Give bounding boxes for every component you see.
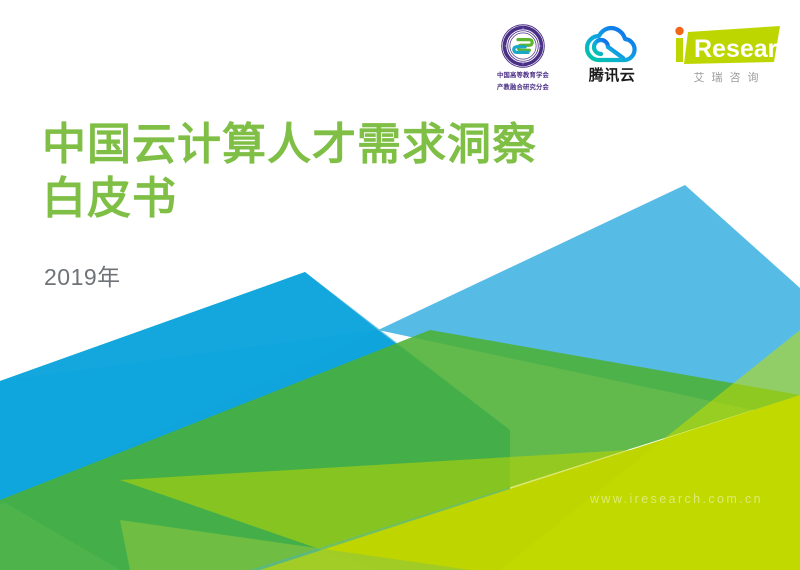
chea-label-line1: 中国高等教育学会	[497, 71, 549, 80]
chea-logo: 中国高等教育学会 产教融合研究分会	[492, 24, 554, 93]
chea-seal-icon	[492, 24, 554, 68]
iresearch-label: 艾瑞咨询	[687, 72, 766, 84]
title-line-1: 中国云计算人才需求洞察	[42, 118, 662, 172]
iresearch-wordmark-icon: Research	[670, 24, 782, 68]
tencent-cloud-logo: 腾讯云	[576, 24, 648, 85]
iresearch-logo: Research 艾瑞咨询	[670, 24, 782, 84]
tencent-cloud-label: 腾讯云	[589, 68, 636, 85]
subtitle-year: 2019年	[44, 258, 121, 292]
page-title: 中国云计算人才需求洞察 白皮书	[42, 118, 662, 225]
cover-page: 中国高等教育学会 产教融合研究分会 腾讯云	[0, 0, 800, 570]
chea-label-line2: 产教融合研究分会	[497, 83, 549, 92]
title-line-2: 白皮书	[42, 172, 662, 226]
watermark-url: www.iresearch.com.cn	[590, 492, 763, 506]
cloud-icon	[579, 24, 645, 66]
svg-text:Research: Research	[694, 35, 782, 63]
logo-row: 中国高等教育学会 产教融合研究分会 腾讯云	[492, 24, 782, 93]
